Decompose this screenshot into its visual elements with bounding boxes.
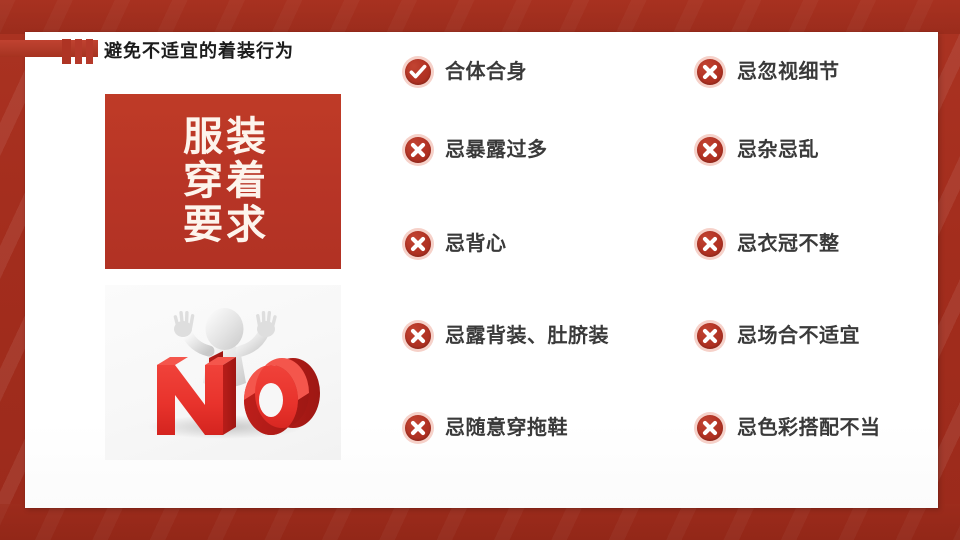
page-title-text: 避免不适宜的着装行为 <box>104 42 294 60</box>
title-bar-3 <box>86 39 93 64</box>
frame-top-band <box>0 0 960 34</box>
letter-o <box>244 358 320 435</box>
cross-circle-icon <box>694 320 726 352</box>
list-item-label: 忌露背装、肚脐装 <box>445 326 609 346</box>
list-item[interactable]: 忌忽视细节 <box>694 56 840 88</box>
list-item-label: 忌场合不适宜 <box>737 326 860 346</box>
no-illustration-graphic <box>105 285 341 460</box>
dress-code-banner: 服装 穿着 要求 <box>105 94 341 269</box>
frame-bottom-band <box>0 504 960 540</box>
cross-circle-icon <box>402 228 434 260</box>
list-item[interactable]: 忌杂忌乱 <box>694 134 819 166</box>
banner-line-2: 穿着 <box>183 160 269 203</box>
list-item[interactable]: 忌色彩搭配不当 <box>694 412 881 444</box>
list-item-label: 忌忽视细节 <box>737 62 840 82</box>
title-marker-bars <box>62 39 93 64</box>
list-item-label: 忌色彩搭配不当 <box>737 418 881 438</box>
cross-circle-icon <box>694 412 726 444</box>
list-item-label: 忌杂忌乱 <box>737 140 819 160</box>
list-item[interactable]: 合体合身 <box>402 56 527 88</box>
list-item[interactable]: 忌露背装、肚脐装 <box>402 320 609 352</box>
list-item[interactable]: 忌衣冠不整 <box>694 228 840 260</box>
letter-n <box>157 351 236 435</box>
dress-code-list: 合体合身忌暴露过多忌背心忌露背装、肚脐装忌随意穿拖鞋忌忽视细节忌杂忌乱忌衣冠不整… <box>402 56 944 500</box>
banner-line-1: 服装 <box>183 116 269 159</box>
title-bar-1 <box>62 39 71 64</box>
cross-circle-icon <box>694 228 726 260</box>
slide: 避免不适宜的着装行为 服装 穿着 要求 <box>0 0 960 540</box>
cross-circle-icon <box>402 134 434 166</box>
title-bar-2 <box>75 39 82 64</box>
page-title: 避免不适宜的着装行为 <box>62 36 294 66</box>
list-item-label: 忌随意穿拖鞋 <box>445 418 568 438</box>
list-item[interactable]: 忌随意穿拖鞋 <box>402 412 568 444</box>
cross-circle-icon <box>402 320 434 352</box>
list-item[interactable]: 忌背心 <box>402 228 507 260</box>
check-circle-icon <box>402 56 434 88</box>
cross-circle-icon <box>694 56 726 88</box>
list-item[interactable]: 忌场合不适宜 <box>694 320 860 352</box>
list-item-label: 忌背心 <box>445 234 507 254</box>
no-illustration-image <box>105 285 341 460</box>
dress-code-banner-text: 服装 穿着 要求 <box>177 116 269 248</box>
list-item-label: 忌衣冠不整 <box>737 234 840 254</box>
list-item[interactable]: 忌暴露过多 <box>402 134 548 166</box>
cross-circle-icon <box>402 412 434 444</box>
cross-circle-icon <box>694 134 726 166</box>
list-item-label: 合体合身 <box>445 62 527 82</box>
banner-line-3: 要求 <box>183 204 269 247</box>
list-item-label: 忌暴露过多 <box>445 140 548 160</box>
